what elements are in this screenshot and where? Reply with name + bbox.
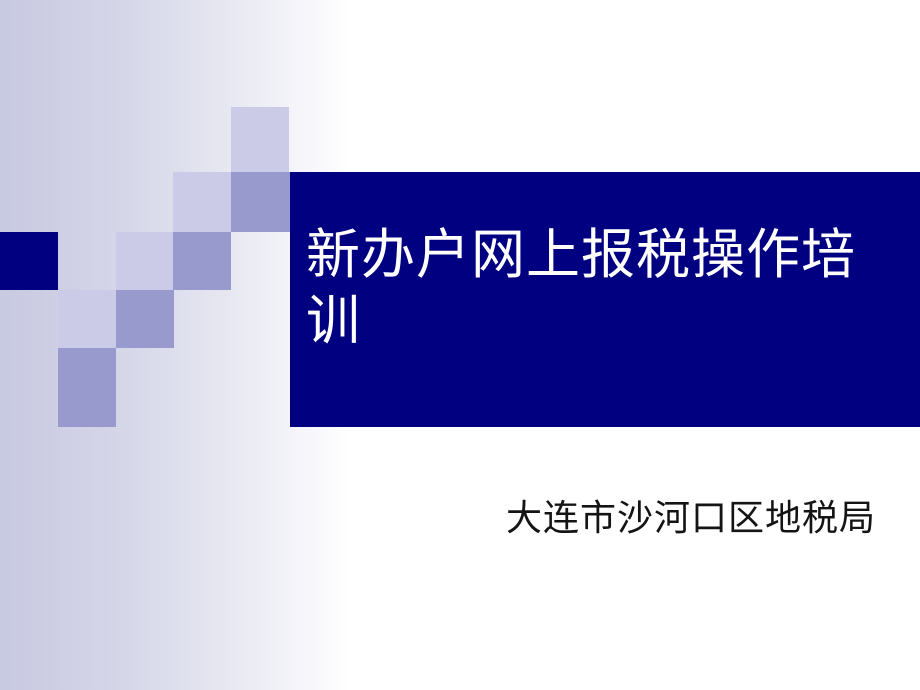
slide-title: 新办户网上报税操作培训	[306, 222, 906, 354]
square-mid-r2c5	[231, 172, 290, 232]
square-light-r3c3	[116, 232, 173, 290]
presentation-slide: 新办户网上报税操作培训 大连市沙河口区地税局	[0, 0, 920, 690]
square-mid-r3c4	[173, 232, 231, 290]
square-mid-r4c3	[116, 290, 174, 348]
square-light-r1c5	[231, 107, 289, 172]
square-light-r2c4	[173, 172, 231, 232]
square-light-r4c2	[58, 290, 116, 348]
square-mid-r5c2	[58, 348, 116, 427]
slide-subtitle: 大连市沙河口区地税局	[506, 496, 906, 542]
square-navy-r3c1	[0, 232, 58, 290]
